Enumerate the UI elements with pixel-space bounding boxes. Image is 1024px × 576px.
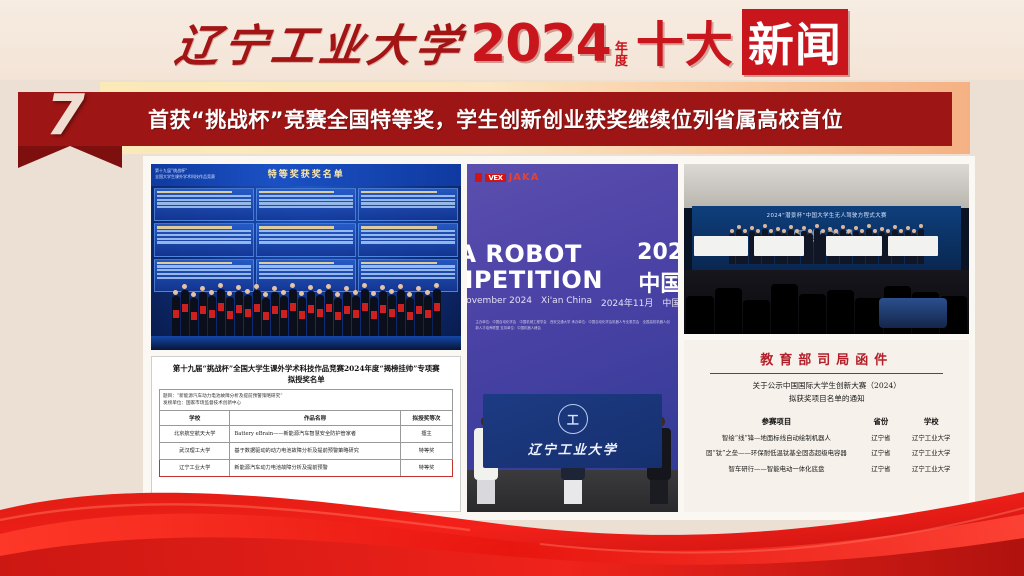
- place-cn: 中国: [662, 296, 678, 309]
- cell-school: 辽宁工业大学: [903, 429, 959, 445]
- backdrop-date-line: November 2024 Xi'an China 2024年11月 中国: [467, 296, 674, 309]
- cell-work: 基于数据驱动的动力电池故障分析及提前预警策略研究: [230, 442, 400, 459]
- news-rank-number: 7: [46, 88, 85, 144]
- cell-project: 智绘“线”锋—地面标线自动绘制机器人: [694, 429, 858, 445]
- team-banner: [826, 236, 882, 256]
- table-row: 智绘“线”锋—地面标线自动绘制机器人 辽宁省 辽宁工业大学: [694, 429, 959, 445]
- cell-work: Battery eBrain——新能源汽车智慧安全防护管家者: [230, 425, 400, 442]
- flag-university-name: 辽宁工业大学: [528, 439, 618, 458]
- cell-school: 武汉理工大学: [160, 442, 230, 459]
- award-winners-row: [151, 264, 461, 342]
- photo-driverless-contest: 2024“潜景杯”中国大学生无人驾驶方程式大赛 颁奖典礼: [684, 164, 969, 334]
- tent-roof: [684, 164, 969, 208]
- table-row: 武汉理工大学 基于数据驱动的动力电池故障分析及提前预警策略研究 特等奖: [160, 442, 453, 459]
- news-item-banner: 首获“挑战杯”竞赛全国特等奖，学生创新创业获奖继续位列省属高校首位: [18, 92, 952, 146]
- content-panel: 第十九届“挑战杯” 全国大学生课外学术科技作品竞赛 特等奖获奖名单: [143, 156, 975, 520]
- table-header-row: 学校 作品名称 拟授奖等次: [160, 410, 453, 425]
- year-suffix: 年 度: [615, 42, 628, 69]
- column-left: 第十九届“挑战杯” 全国大学生课外学术科技作品竞赛 特等奖获奖名单: [151, 164, 461, 512]
- place-en: Xi'an China: [541, 296, 592, 309]
- column-middle: VEX JAKA A ROBOT MPETITION 2024 中国机 Nove…: [467, 164, 678, 512]
- year-char-bottom: 度: [615, 55, 628, 69]
- table-row: 固“钛”之垒——环保耐低温钛基全固态超级电容器 辽宁省 辽宁工业大学: [694, 445, 959, 461]
- team-banner: [754, 236, 804, 256]
- sponsor-mark-icon: [475, 173, 482, 182]
- col-school: 学校: [160, 410, 230, 425]
- col-work: 作品名称: [230, 410, 400, 425]
- backdrop-title-en-line1: A ROBOT: [467, 240, 581, 268]
- masthead-title: 辽宁工业大学 2024 年 度 十大 新闻: [176, 5, 848, 75]
- stage-floor: [151, 336, 461, 350]
- col-project: 参赛项目: [694, 414, 858, 429]
- doc-title: 第十九届“挑战杯”全国大学生课外学术科技作品竞赛2024年度“揭榜挂帅”专项赛 …: [159, 363, 453, 385]
- backdrop-organizer-text: 主办单位：中国自动化学会 中国机械工程学会 西安交通大学 承办单位：中国自动化学…: [475, 320, 670, 332]
- col-level: 拟授奖等次: [400, 410, 453, 425]
- team-banner: [694, 236, 748, 256]
- photo-award-ceremony: 第十九届“挑战杯” 全国大学生课外学术科技作品竞赛 特等奖获奖名单: [151, 164, 461, 350]
- cell-school: 辽宁工业大学: [903, 445, 959, 461]
- backdrop-title-cn: 中国机: [638, 266, 678, 298]
- photo-robot-competition: VEX JAKA A ROBOT MPETITION 2024 中国机 Nove…: [467, 164, 678, 512]
- backdrop-title-en-line2: MPETITION: [467, 266, 602, 294]
- formula-race-car: [879, 298, 947, 328]
- university-name-calligraphy: 辽宁工业大学: [172, 10, 469, 74]
- news-headline: 首获“挑战杯”竞赛全国特等奖，学生创新创业获奖继续位列省属高校首位: [148, 104, 843, 134]
- doc2-divider: [710, 373, 943, 374]
- university-emblem-icon: 工: [558, 404, 588, 434]
- awards-table: 学校 作品名称 拟授奖等次 北京航空航天大学 Battery eBrain——新…: [159, 410, 453, 477]
- cell-province: 辽宁省: [858, 429, 903, 445]
- backdrop-year: 2024: [637, 240, 678, 265]
- jaka-logo: JAKA: [509, 172, 540, 183]
- university-flag: 工 辽宁工业大学: [483, 394, 662, 468]
- cell-province: 辽宁省: [858, 445, 903, 461]
- news-label: 新闻: [742, 9, 848, 75]
- col-school: 学校: [903, 414, 959, 429]
- vex-logo: VEX: [485, 174, 505, 182]
- column-right: 2024“潜景杯”中国大学生无人驾驶方程式大赛 颁奖典礼: [684, 164, 969, 512]
- year-number: 2024: [470, 14, 611, 74]
- doc-meta: 题目：“新能源汽车动力电池故障分析及提前预警策略研究” 发榜单位：国家市场监督技…: [159, 389, 453, 410]
- screen-caption: 特等奖获奖名单: [268, 167, 345, 180]
- table-row: 北京航空航天大学 Battery eBrain——新能源汽车智慧安全防护管家者 …: [160, 425, 453, 442]
- col-province: 省份: [858, 414, 903, 429]
- silk-wave-graphic: [0, 468, 1024, 576]
- team-banner: [888, 236, 938, 256]
- date-cn: 2024年11月: [601, 296, 653, 309]
- page-header: 辽宁工业大学 2024 年 度 十大 新闻: [0, 0, 1024, 80]
- date-en: November 2024: [467, 296, 532, 309]
- doc2-title: 教育部司局函件: [694, 349, 959, 368]
- sponsor-logos: VEX JAKA: [475, 172, 539, 183]
- decorative-red-silk-footer: [0, 468, 1024, 576]
- table-header-row: 参赛项目 省份 学校: [694, 414, 959, 429]
- screen-corner-tag: 第十九届“挑战杯” 全国大学生课外学术科技作品竞赛: [155, 168, 215, 180]
- top-ten-label: 十大: [636, 5, 734, 75]
- cell-project: 固“钛”之垒——环保耐低温钛基全固态超级电容器: [694, 445, 858, 461]
- banner-ribbon-tail: [18, 146, 122, 168]
- cell-school: 北京航空航天大学: [160, 425, 230, 442]
- doc2-subtitle: 关于公示中国国际大学生创新大赛（2024） 拟获奖项目名单的通知: [694, 380, 959, 406]
- cell-level: 擂主: [400, 425, 453, 442]
- cell-level: 特等奖: [400, 442, 453, 459]
